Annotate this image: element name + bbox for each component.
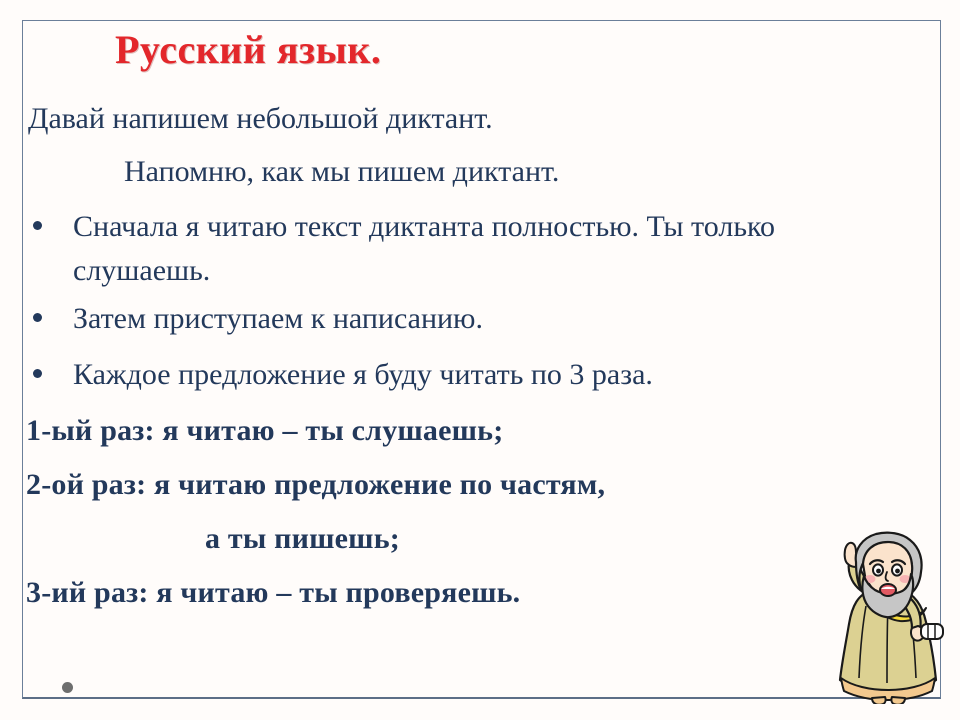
bullet-dot-icon <box>33 369 42 378</box>
list-item-label: Сначала я читаю текст диктанта полностью… <box>73 205 918 293</box>
reading-step-2-continuation: а ты пишешь; <box>205 519 400 559</box>
reading-step-2: 2-ой раз: я читаю предложение по частям, <box>26 465 605 505</box>
philosopher-illustration <box>828 528 950 704</box>
list-item: Каждое предложение я буду читать по 3 ра… <box>28 353 908 397</box>
bullet-dot-icon <box>33 313 42 322</box>
list-item-label: Затем приступаем к написанию. <box>73 297 908 341</box>
slide-canvas: Русский язык. Давай напишем небольшой ди… <box>0 0 960 720</box>
intro-line-2: Напомню, как мы пишем диктант. <box>124 152 559 192</box>
bullet-dot-icon <box>33 221 42 230</box>
intro-line-1: Давай напишем небольшой диктант. <box>28 99 493 139</box>
list-item: Затем приступаем к написанию. <box>28 297 908 341</box>
trailing-empty-bullet-dot-icon <box>62 682 73 693</box>
slide-content: Русский язык. Давай напишем небольшой ди… <box>0 0 960 720</box>
list-item: Сначала я читаю текст диктанта полностью… <box>28 205 908 293</box>
list-item-label: Каждое предложение я буду читать по 3 ра… <box>73 353 908 397</box>
page-title: Русский язык. <box>115 27 381 73</box>
reading-step-3: 3-ий раз: я читаю – ты проверяешь. <box>26 573 520 613</box>
reading-step-1: 1-ый раз: я читаю – ты слушаешь; <box>26 411 503 451</box>
